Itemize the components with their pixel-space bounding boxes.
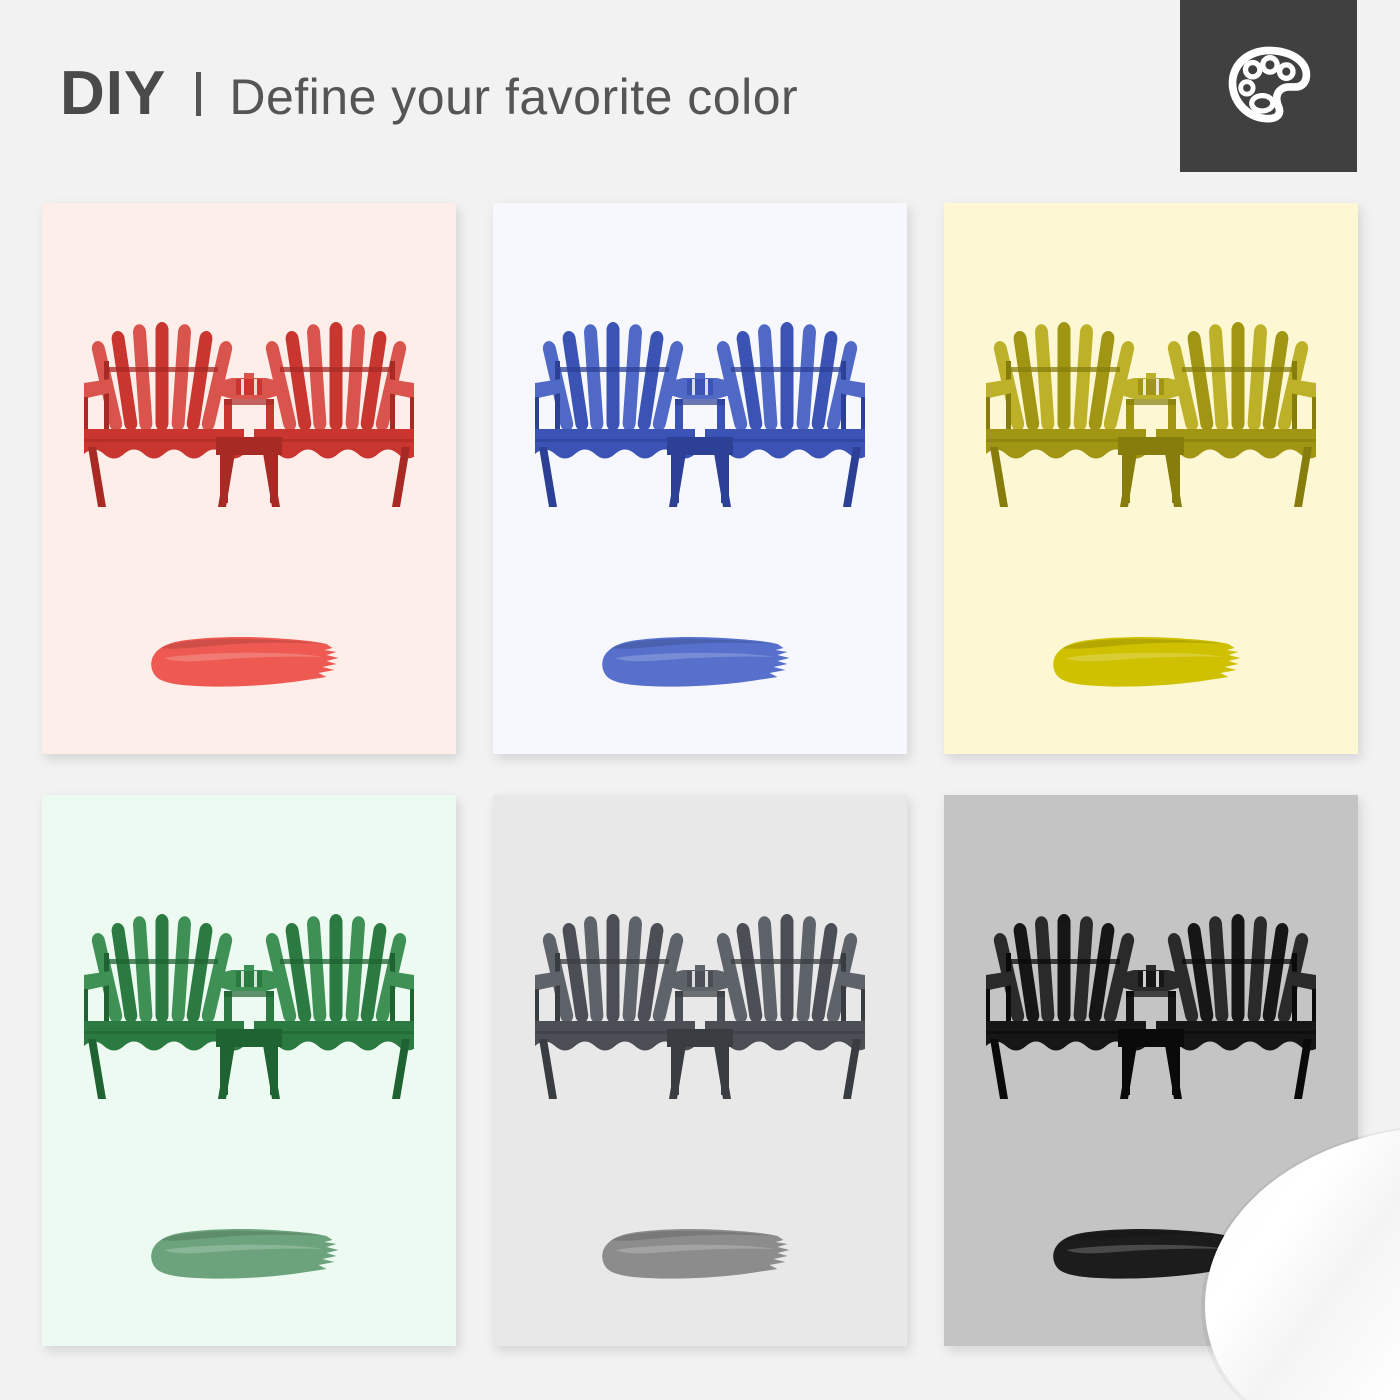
page-subtitle: Define your favorite color [229,72,798,122]
swatch-card-inner [493,203,907,754]
title-divider [196,72,201,116]
swatch-card-inner [42,795,456,1346]
adirondack-double-chair-image [535,321,865,531]
swatch-card-red[interactable] [42,203,456,754]
adirondack-double-chair-image [986,321,1316,531]
paint-brush-stroke-green [147,1220,352,1292]
swatch-card-yellow[interactable] [944,203,1358,754]
paint-brush-stroke-gray [598,1220,803,1292]
swatch-card-black[interactable] [944,795,1358,1346]
paint-brush-stroke-black [1049,1220,1254,1292]
swatch-card-blue[interactable] [493,203,907,754]
paint-brush-stroke-red [147,628,352,700]
paint-brush-stroke-yellow [1049,628,1254,700]
adirondack-double-chair-image [535,913,865,1123]
swatch-grid [42,203,1357,1358]
palette-badge [1180,0,1357,172]
paint-brush-stroke-blue [598,628,803,700]
swatch-card-inner [493,795,907,1346]
adirondack-double-chair-image [84,321,414,531]
adirondack-double-chair-image [84,913,414,1123]
page-title: DIY [60,63,166,125]
header-title-group: DIY Define your favorite color [60,63,798,125]
swatch-card-inner [944,795,1358,1346]
adirondack-double-chair-image [986,913,1316,1123]
header: DIY Define your favorite color [0,0,1400,180]
swatch-card-inner [42,203,456,754]
poster-root: DIY Define your favorite color [0,0,1400,1400]
palette-icon [1221,38,1317,134]
swatch-card-green[interactable] [42,795,456,1346]
swatch-card-gray[interactable] [493,795,907,1346]
swatch-card-inner [944,203,1358,754]
